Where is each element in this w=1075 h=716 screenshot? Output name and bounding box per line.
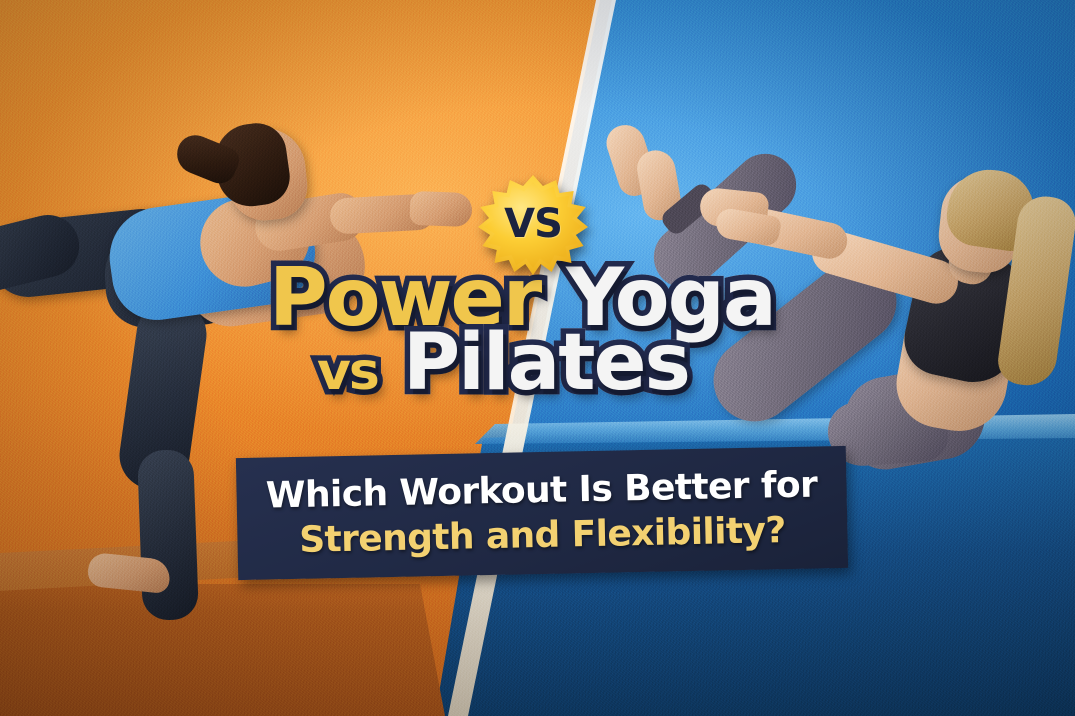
title-block: Power Yoga vs Pilates xyxy=(255,258,795,448)
left-subject-standing-shin xyxy=(137,449,199,621)
title-word-pilates: Pilates xyxy=(403,318,689,408)
vs-label: VS xyxy=(478,175,588,275)
subtitle-bar: Which Workout Is Better for Strength and… xyxy=(236,446,848,580)
title-line-two: vs Pilates xyxy=(317,324,689,402)
title-word-vs: vs xyxy=(317,342,378,402)
subtitle-line-one: Which Workout Is Better for xyxy=(265,464,817,516)
subtitle-line-two: Strength and Flexibility? xyxy=(299,510,786,561)
vs-badge: VS xyxy=(478,175,588,275)
poster-canvas: VS Power Yoga vs Pilates Which Workout I… xyxy=(0,0,1075,716)
left-subject-hand xyxy=(409,191,472,227)
